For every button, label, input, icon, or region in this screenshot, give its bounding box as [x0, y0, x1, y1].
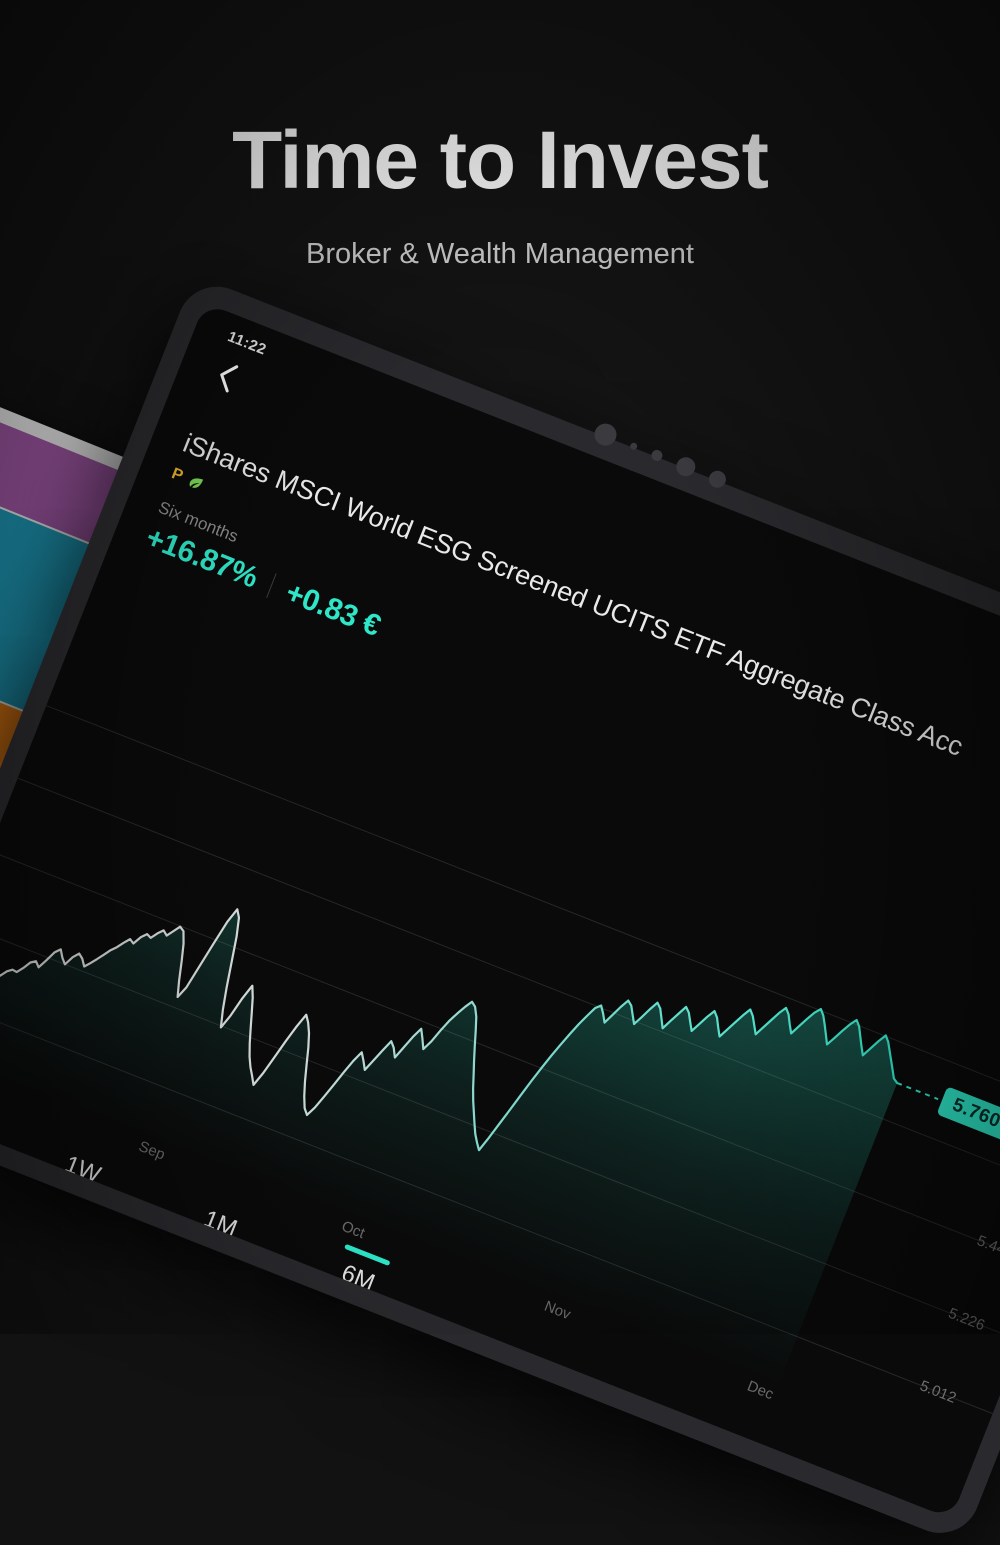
status-bar-time: 11:22: [225, 328, 268, 358]
camera-lens-icon: [707, 468, 729, 490]
chevron-left-icon: [211, 358, 241, 395]
tablet-screen: 11:22 iShares MSCI World ESG Screened UC…: [0, 303, 1000, 1519]
premium-badge: P: [169, 466, 185, 485]
camera-lens-icon: [591, 420, 620, 449]
camera-sensor-icon: [650, 448, 664, 462]
camera-lens-icon: [674, 454, 699, 479]
price-connector: [897, 1083, 938, 1099]
divider: [266, 574, 276, 599]
leaf-icon: [186, 473, 206, 493]
page-title: Time to Invest: [0, 118, 1000, 204]
back-button[interactable]: [204, 355, 248, 399]
page-subtitle: Broker & Wealth Management: [0, 238, 1000, 271]
primary-tablet: 11:22 iShares MSCI World ESG Screened UC…: [0, 275, 1000, 1545]
hero-section: Time to Invest Broker & Wealth Managemen…: [0, 118, 1000, 271]
camera-sensor-icon: [629, 441, 638, 450]
buy-label: Buy now: [0, 1223, 23, 1294]
